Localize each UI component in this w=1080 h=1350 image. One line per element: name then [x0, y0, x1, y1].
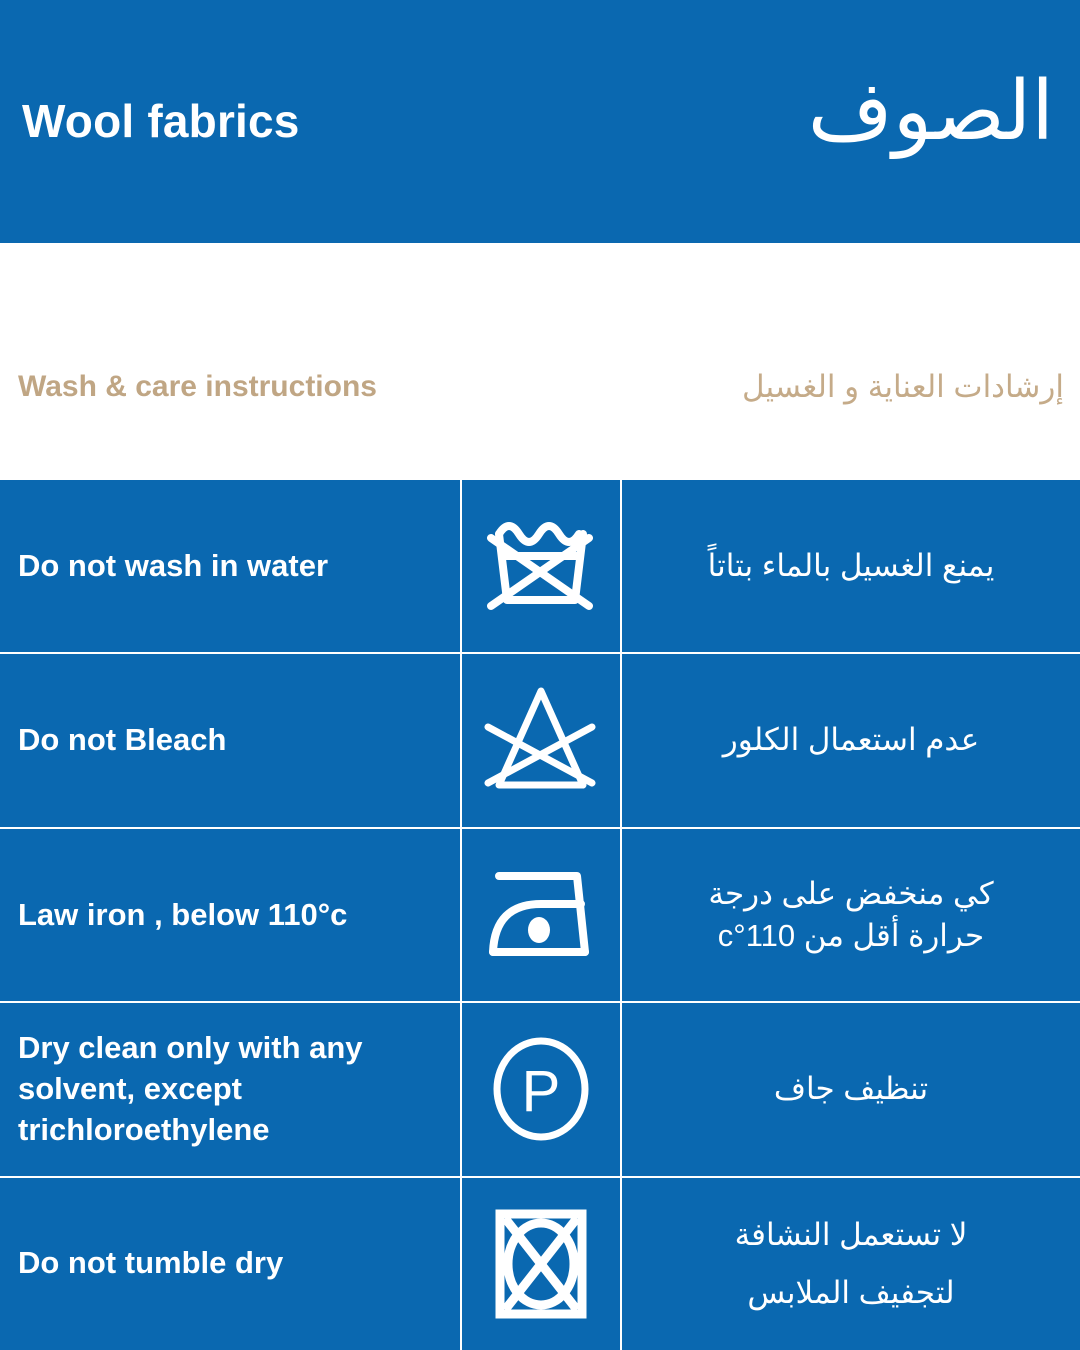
care-label-card: Wool fabrics الصوف Wash & care instructi…	[0, 0, 1080, 1350]
do-not-wash-icon	[485, 512, 597, 620]
instruction-label-ar: تنظيف جاف	[774, 1066, 928, 1113]
instruction-ar-cell: كي منخفض على درجة حرارة أقل من 110°c	[622, 829, 1080, 1001]
table-row: Law iron , below 110°c كي منخفض على درجة…	[0, 829, 1080, 1003]
instruction-icon-cell	[462, 1178, 622, 1350]
svg-text:P: P	[522, 1059, 561, 1124]
table-row: Dry clean only with any solvent, except …	[0, 1003, 1080, 1177]
instruction-label-en: Law iron , below 110°c	[18, 895, 347, 936]
instruction-icon-cell: P	[462, 1003, 622, 1175]
instruction-label-ar: لا تستعمل النشافة لتجفيف الملابس	[735, 1206, 968, 1321]
instruction-ar-cell: عدم استعمال الكلور	[622, 654, 1080, 826]
page-title-ar: الصوف	[808, 69, 1054, 155]
instruction-en-cell: Do not Bleach	[0, 654, 462, 826]
instruction-icon-cell	[462, 829, 622, 1001]
subtitle-label-en: Wash & care instructions	[18, 370, 377, 404]
instruction-label-ar: كي منخفض على درجة حرارة أقل من 110°c	[708, 873, 993, 957]
dry-clean-p-icon: P	[489, 1035, 593, 1143]
subtitle-label-ar: إرشادات العناية و الغسيل	[742, 369, 1072, 405]
table-row: Do not wash in water يمنع الغسيل بالم	[0, 480, 1080, 654]
instruction-label-en: Do not Bleach	[18, 720, 226, 761]
instruction-label-ar: يمنع الغسيل بالماء بتاتاً	[708, 543, 995, 590]
instruction-en-cell: Dry clean only with any solvent, except …	[0, 1003, 462, 1175]
table-row: Do not Bleach عدم استعمال الكلور	[0, 654, 1080, 828]
instruction-ar-cell: لا تستعمل النشافة لتجفيف الملابس	[622, 1178, 1080, 1350]
table-row: Do not tumble dry لا تستعمل النشافة لتجف…	[0, 1178, 1080, 1350]
instruction-label-en: Do not tumble dry	[18, 1243, 283, 1284]
instruction-ar-cell: تنظيف جاف	[622, 1003, 1080, 1175]
instruction-icon-cell	[462, 654, 622, 826]
instruction-en-cell: Do not wash in water	[0, 480, 462, 652]
do-not-bleach-icon	[482, 683, 600, 799]
instruction-ar-cell: يمنع الغسيل بالماء بتاتاً	[622, 480, 1080, 652]
do-not-tumble-dry-icon	[495, 1209, 587, 1319]
instructions-table: Do not wash in water يمنع الغسيل بالم	[0, 480, 1080, 1350]
instruction-label-en: Do not wash in water	[18, 546, 328, 587]
instruction-label-ar: عدم استعمال الكلور	[723, 717, 979, 764]
instruction-icon-cell	[462, 480, 622, 652]
instruction-label-en: Dry clean only with any solvent, except …	[18, 1028, 446, 1151]
instruction-en-cell: Law iron , below 110°c	[0, 829, 462, 1001]
instruction-en-cell: Do not tumble dry	[0, 1178, 462, 1350]
header-banner: Wool fabrics الصوف	[0, 0, 1080, 243]
subtitle-band: Wash & care instructions إرشادات العناية…	[0, 243, 1080, 480]
page-title-en: Wool fabrics	[22, 97, 300, 145]
low-iron-icon	[485, 866, 597, 964]
